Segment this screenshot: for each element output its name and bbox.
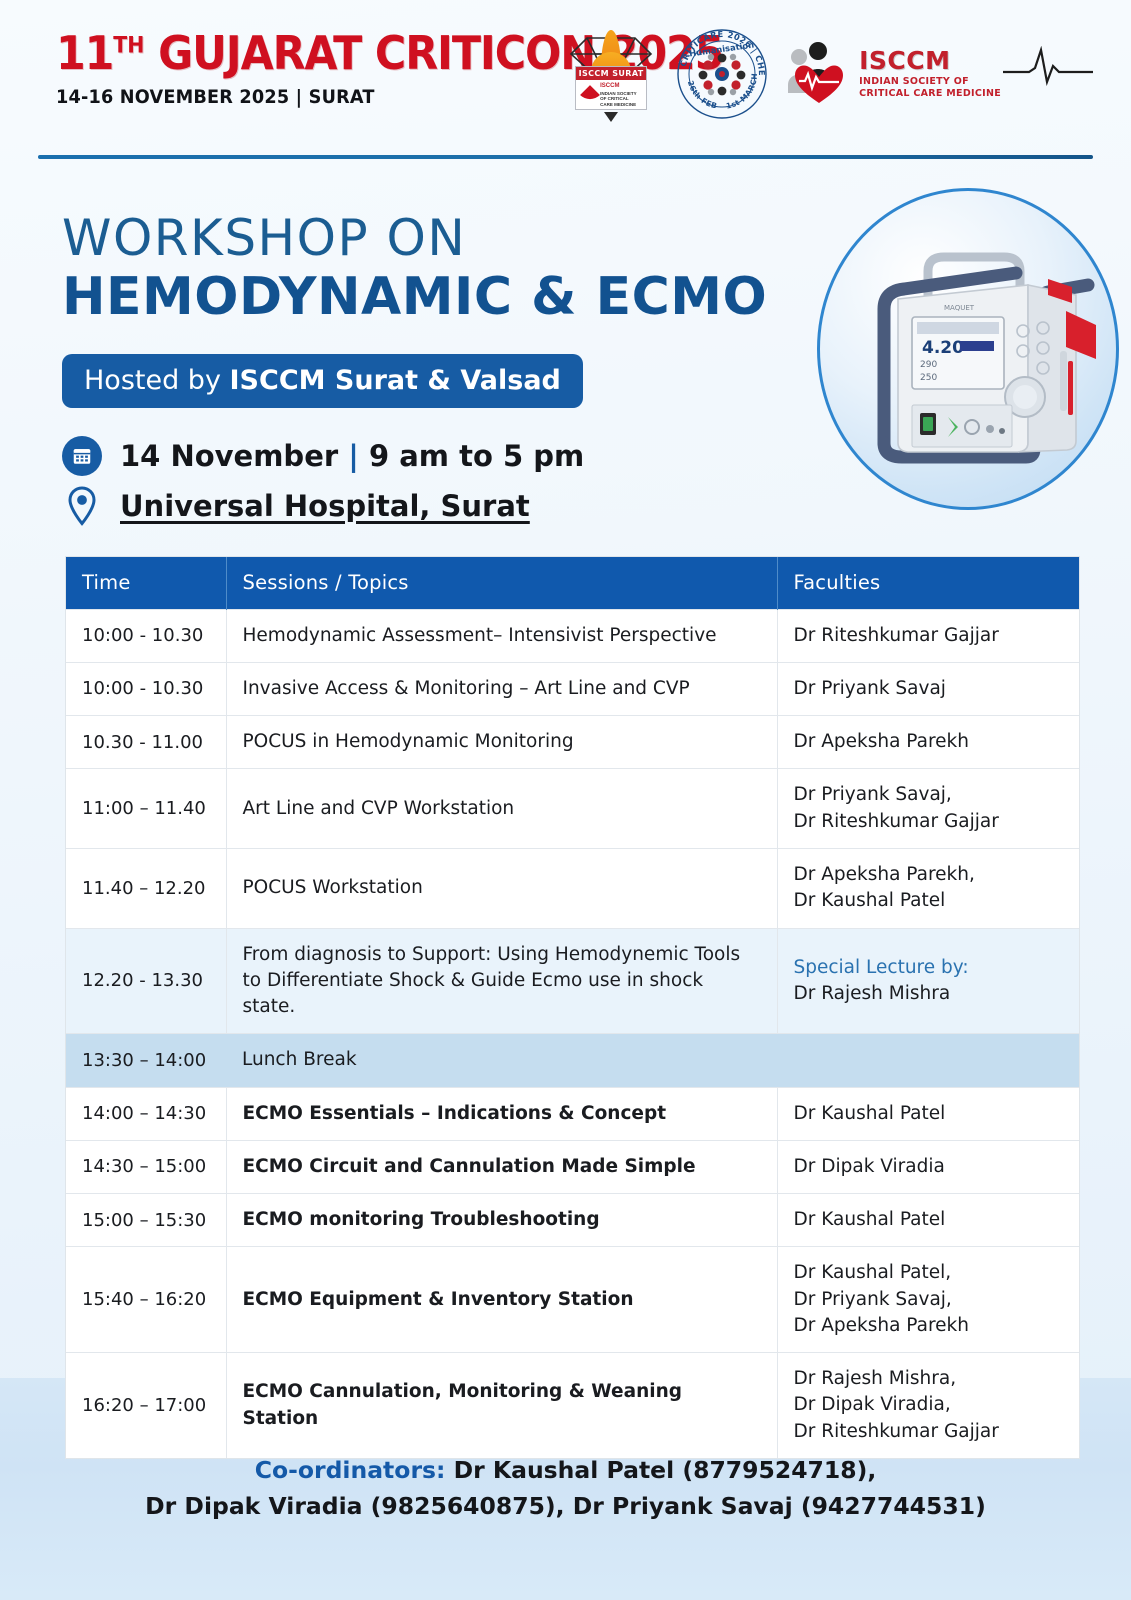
table-row: 10:00 - 10.30Hemodynamic Assessment– Int… <box>66 609 1079 662</box>
isccm-surat-plate-title: ISCCM SURAT <box>576 67 646 80</box>
table-row: 13:30 – 14:00Lunch Break <box>66 1034 1079 1087</box>
cell-topic: From diagnosis to Support: Using Hemodyn… <box>226 928 777 1034</box>
cell-time: 13:30 – 14:00 <box>66 1034 226 1087</box>
cell-faculty: Dr Dipak Viradia <box>777 1140 1079 1193</box>
criticare-badge-icon: CRITICARE 2026 | CHENNAI 26th FEB – 1st … <box>675 27 769 121</box>
table-row: 16:20 – 17:00ECMO Cannulation, Monitorin… <box>66 1353 1079 1458</box>
workshop-title: HEMODYNAMIC & ECMO <box>62 269 1131 326</box>
cell-time: 11.40 – 12.20 <box>66 849 226 929</box>
location-pin-icon <box>62 486 102 526</box>
table-row: 14:00 – 14:30ECMO Essentials – Indicatio… <box>66 1087 1079 1140</box>
cell-faculty: Dr Rajesh Mishra,Dr Dipak Viradia,Dr Rit… <box>777 1353 1079 1458</box>
schedule-table-body: 10:00 - 10.30Hemodynamic Assessment– Int… <box>66 609 1079 1458</box>
cell-time: 16:20 – 17:00 <box>66 1353 226 1458</box>
table-row: 10:00 - 10.30Invasive Access & Monitorin… <box>66 662 1079 715</box>
cell-faculty: Dr Kaushal Patel <box>777 1087 1079 1140</box>
event-title-ordinal: TH <box>113 34 144 59</box>
table-row: 11:00 – 11.40Art Line and CVP Workstatio… <box>66 769 1079 849</box>
coordinators-footer: Co-ordinators: Dr Kaushal Patel (8779524… <box>0 1452 1131 1525</box>
isccm-wordmark: ISCCM INDIAN SOCIETY OF CRITICAL CARE ME… <box>859 48 1001 100</box>
cell-topic: Hemodynamic Assessment– Intensivist Pers… <box>226 609 777 662</box>
cell-topic: Lunch Break <box>226 1034 1079 1087</box>
schedule-table-head: Time Sessions / Topics Faculties <box>66 557 1079 610</box>
cell-faculty: Dr Kaushal Patel,Dr Priyank Savaj,Dr Ape… <box>777 1247 1079 1353</box>
workshop-eyebrow: WORKSHOP ON <box>62 212 1131 265</box>
isccm-line2: CRITICAL CARE MEDICINE <box>859 88 1001 100</box>
cell-time: 15:40 – 16:20 <box>66 1247 226 1353</box>
coordinators-line1: Co-ordinators: Dr Kaushal Patel (8779524… <box>0 1452 1131 1488</box>
isccm-surat-plate: ISCCM SURAT ISCCM INDIAN SOCIETY OF CRIT… <box>575 66 647 110</box>
cell-time: 12.20 - 13.30 <box>66 928 226 1034</box>
table-header-row: Time Sessions / Topics Faculties <box>66 557 1079 610</box>
cell-faculty: Dr Priyank Savaj,Dr Riteshkumar Gajjar <box>777 769 1079 849</box>
isccm-heart-mark-icon <box>785 41 853 107</box>
cell-time: 10.30 - 11.00 <box>66 716 226 769</box>
column-header-faculties: Faculties <box>777 557 1079 610</box>
schedule-table: Time Sessions / Topics Faculties 10:00 -… <box>66 557 1079 1458</box>
cell-topic: ECMO Circuit and Cannulation Made Simple <box>226 1140 777 1193</box>
table-row: 11.40 – 12.20POCUS WorkstationDr Apeksha… <box>66 849 1079 929</box>
calendar-icon <box>62 436 102 476</box>
coordinators-line2: Dr Dipak Viradia (9825640875), Dr Priyan… <box>0 1488 1131 1524</box>
cell-time: 14:30 – 15:00 <box>66 1140 226 1193</box>
cell-faculty: Dr Apeksha Parekh,Dr Kaushal Patel <box>777 849 1079 929</box>
cell-topic: Invasive Access & Monitoring – Art Line … <box>226 662 777 715</box>
event-venue-row: Universal Hospital, Surat <box>62 486 1131 526</box>
cell-faculty: Dr Kaushal Patel <box>777 1194 1079 1247</box>
poster-header: 11TH GUJARAT CRITICON 2025 14-16 NOVEMBE… <box>0 0 1131 158</box>
ecg-line-icon <box>1003 46 1093 86</box>
cell-topic: ECMO monitoring Troubleshooting <box>226 1194 777 1247</box>
cell-faculty: Special Lecture by:Dr Rajesh Mishra <box>777 928 1079 1034</box>
criticare-2026-logo: CRITICARE 2026 | CHENNAI 26th FEB – 1st … <box>675 27 769 121</box>
isccm-surat-society-sub: INDIAN SOCIETY OF CRITICAL CARE MEDICINE <box>600 91 636 107</box>
logo-group: ISCCM SURAT ISCCM INDIAN SOCIETY OF CRIT… <box>563 26 1093 122</box>
special-lecture-tag: Special Lecture by: <box>794 955 1064 981</box>
cell-time: 10:00 - 10.30 <box>66 609 226 662</box>
cell-time: 15:00 – 15:30 <box>66 1194 226 1247</box>
event-venue-text: Universal Hospital, Surat <box>120 489 530 523</box>
hosted-by-prefix: Hosted by <box>84 365 230 396</box>
coordinators-label: Co-ordinators: <box>255 1456 446 1484</box>
event-date-value: 14 November <box>120 439 348 473</box>
cell-faculty: Dr Apeksha Parekh <box>777 716 1079 769</box>
schedule-section: Time Sessions / Topics Faculties 10:00 -… <box>66 557 1079 1458</box>
isccm-acronym: ISCCM <box>859 48 1001 73</box>
poster-canvas: 11TH GUJARAT CRITICON 2025 14-16 NOVEMBE… <box>0 0 1131 1600</box>
isccm-line1: INDIAN SOCIETY OF <box>859 76 1001 88</box>
column-header-time: Time <box>66 557 226 610</box>
table-row: 14:30 – 15:00ECMO Circuit and Cannulatio… <box>66 1140 1079 1193</box>
cell-time: 11:00 – 11.40 <box>66 769 226 849</box>
isccm-national-logo: ISCCM INDIAN SOCIETY OF CRITICAL CARE ME… <box>785 29 1093 119</box>
cell-topic: POCUS Workstation <box>226 849 777 929</box>
event-date-row: 14 November | 9 am to 5 pm <box>62 436 1131 476</box>
isccm-surat-logo: ISCCM SURAT ISCCM INDIAN SOCIETY OF CRIT… <box>563 26 659 122</box>
isccm-surat-acronym: ISCCM <box>600 83 642 91</box>
event-meta: 14 November | 9 am to 5 pm Universal Hos… <box>62 436 1131 526</box>
isccm-surat-society: ISCCM INDIAN SOCIETY OF CRITICAL CARE ME… <box>600 83 642 107</box>
hosted-by-organizer: ISCCM Surat & Valsad <box>230 365 561 396</box>
cell-time: 10:00 - 10.30 <box>66 662 226 715</box>
cell-topic: ECMO Equipment & Inventory Station <box>226 1247 777 1353</box>
event-time-value: 9 am to 5 pm <box>359 439 584 473</box>
cell-faculty: Dr Riteshkumar Gajjar <box>777 609 1079 662</box>
table-row: 12.20 - 13.30From diagnosis to Support: … <box>66 928 1079 1034</box>
table-row: 15:00 – 15:30ECMO monitoring Troubleshoo… <box>66 1194 1079 1247</box>
cell-topic: Art Line and CVP Workstation <box>226 769 777 849</box>
cell-time: 14:00 – 14:30 <box>66 1087 226 1140</box>
table-row: 15:40 – 16:20ECMO Equipment & Inventory … <box>66 1247 1079 1353</box>
cell-faculty: Dr Priyank Savaj <box>777 662 1079 715</box>
event-date-text: 14 November | 9 am to 5 pm <box>120 439 584 473</box>
chevron-down-icon <box>604 112 618 122</box>
hero-section: WORKSHOP ON HEMODYNAMIC & ECMO Hosted by… <box>0 158 1131 526</box>
cell-topic: ECMO Cannulation, Monitoring & Weaning S… <box>226 1353 777 1458</box>
cell-topic: POCUS in Hemodynamic Monitoring <box>226 716 777 769</box>
cell-topic: ECMO Essentials – Indications & Concept <box>226 1087 777 1140</box>
heart-icon <box>580 85 600 105</box>
table-row: 10.30 - 11.00POCUS in Hemodynamic Monito… <box>66 716 1079 769</box>
event-title-number: 11 <box>56 26 113 80</box>
coordinators-first: Dr Kaushal Patel (8779524718), <box>445 1456 876 1484</box>
date-time-separator: | <box>348 439 359 473</box>
column-header-sessions: Sessions / Topics <box>226 557 777 610</box>
hosted-by-badge: Hosted by ISCCM Surat & Valsad <box>62 354 583 408</box>
